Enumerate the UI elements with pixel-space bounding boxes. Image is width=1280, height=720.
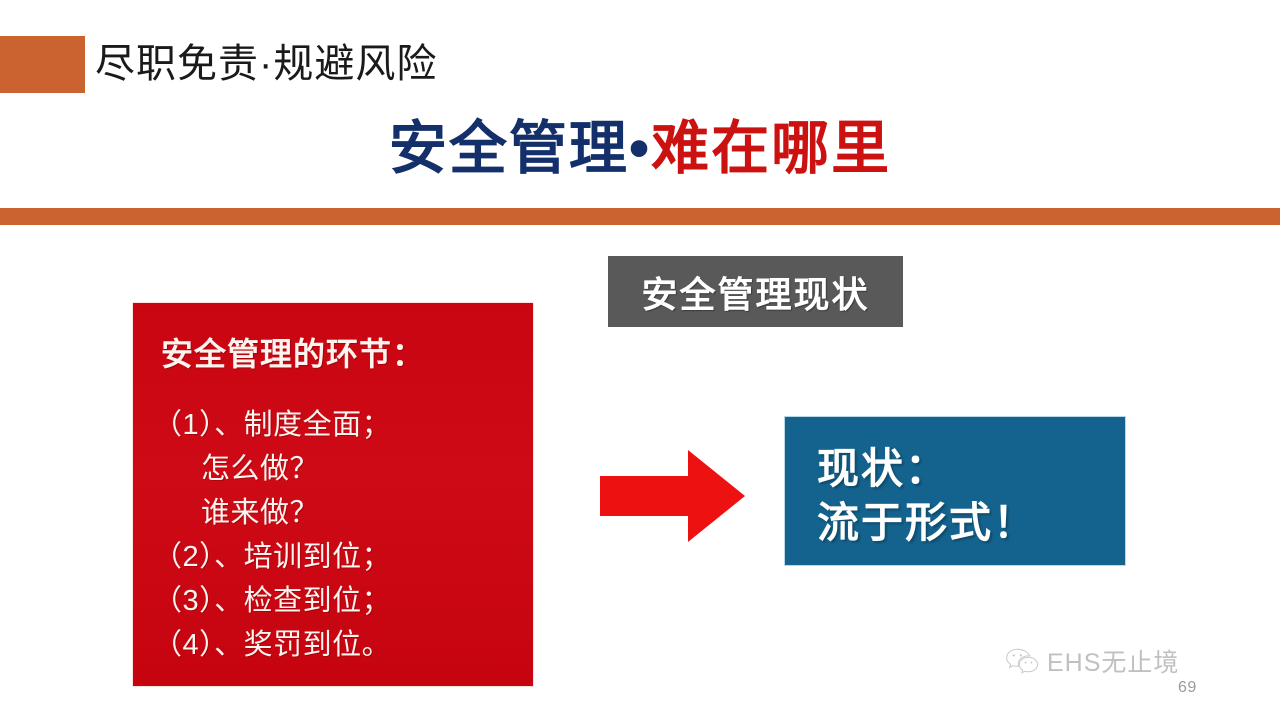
- list-item: 谁来做？: [153, 491, 513, 535]
- safety-steps-panel: 安全管理的环节： （1）、制度全面； 怎么做？ 谁来做？ （2）、培训到位； （…: [133, 303, 533, 686]
- list-item: （3）、检查到位；: [153, 579, 513, 623]
- page-title: 安全管理•难在哪里: [0, 110, 1280, 188]
- conclusion-box: 现状： 流于形式！: [785, 417, 1125, 565]
- page-title-red-segment: 难在哪里: [651, 116, 891, 181]
- page-number: 69: [1178, 679, 1197, 697]
- conclusion-line-1: 现状：: [817, 435, 949, 496]
- watermark-text: EHS无止境: [1047, 643, 1179, 679]
- current-status-label-box: 安全管理现状: [608, 256, 903, 327]
- safety-steps-list: （1）、制度全面； 怎么做？ 谁来做？ （2）、培训到位； （3）、检查到位； …: [153, 403, 513, 667]
- right-arrow-icon: [600, 450, 745, 542]
- slide-canvas: 尽职免责·规避风险 安全管理•难在哪里 安全管理的环节： （1）、制度全面； 怎…: [0, 0, 1280, 720]
- list-item: （2）、培训到位；: [153, 535, 513, 579]
- header-subtitle: 尽职免责·规避风险: [95, 38, 437, 90]
- safety-steps-heading: 安全管理的环节：: [161, 329, 425, 375]
- header-accent-block: [0, 36, 85, 93]
- conclusion-line-2: 流于形式！: [817, 489, 1037, 550]
- wechat-icon: [1005, 647, 1039, 675]
- list-item: （4）、奖罚到位。: [153, 623, 513, 667]
- divider-bar: [0, 208, 1280, 225]
- watermark: EHS无止境: [1005, 643, 1179, 679]
- page-title-navy-segment: 安全管理•: [389, 116, 651, 181]
- list-item: （1）、制度全面；: [153, 403, 513, 447]
- current-status-label-text: 安全管理现状: [641, 266, 869, 318]
- list-item: 怎么做？: [153, 447, 513, 491]
